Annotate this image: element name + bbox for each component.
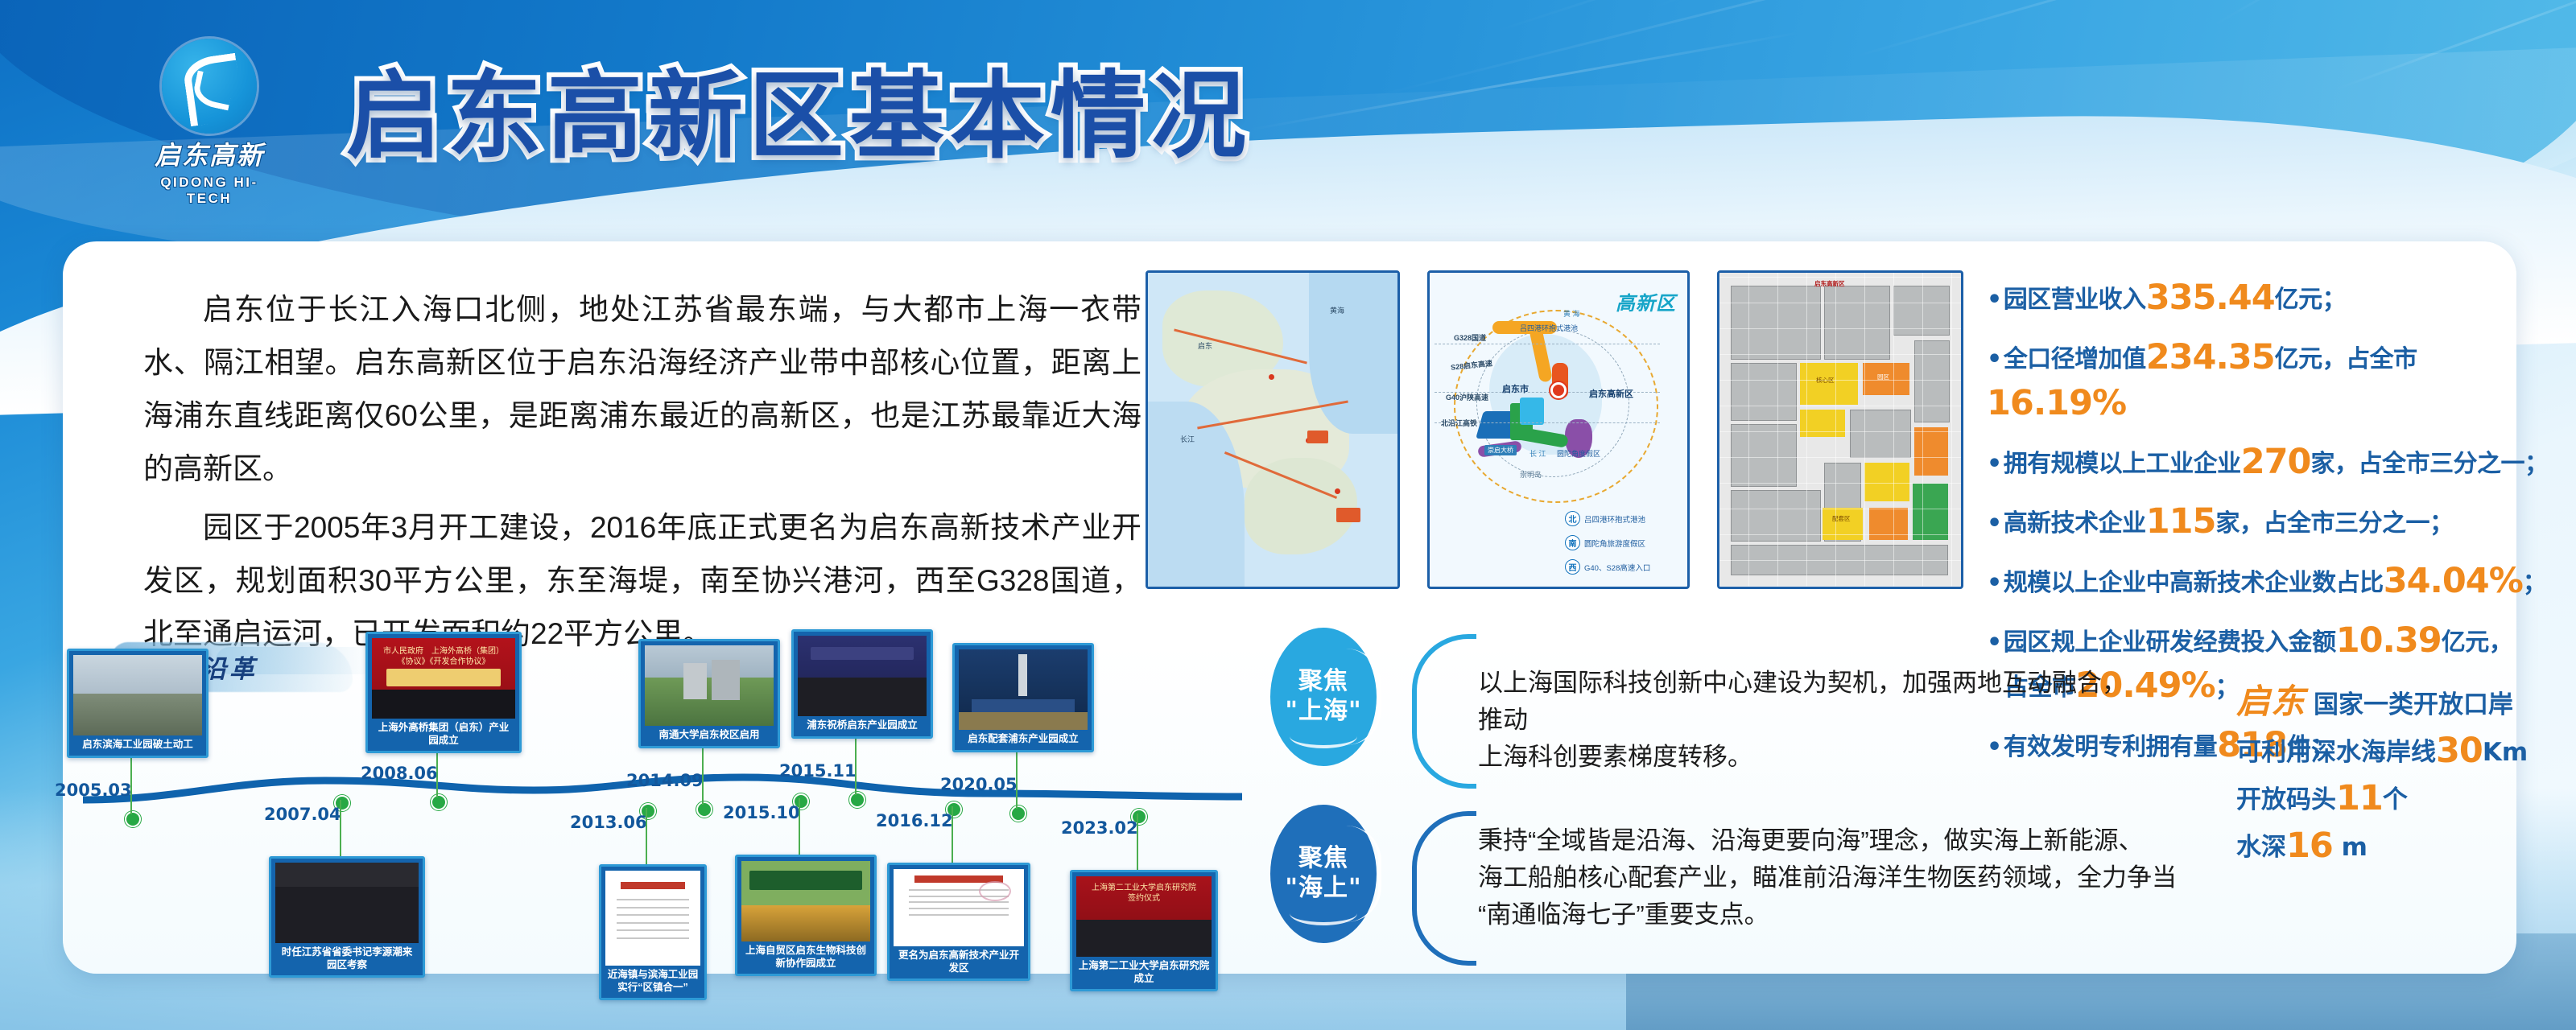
port-stat-line: 水深16 m — [2236, 826, 2574, 866]
stat-value: 234.35 — [2146, 337, 2275, 377]
legend-text-north: 吕四港环抱式港池 — [1584, 513, 1645, 525]
port-stat-label: 水深 — [2236, 833, 2286, 862]
timeline-event-card[interactable]: 时任江苏省省委书记李源潮来园区考察 — [269, 856, 425, 978]
focus-label-line1-1: 聚焦 — [1298, 844, 1348, 874]
stat-value: 335.44 — [2146, 278, 2275, 318]
stat-label: 园区营业收入 — [2004, 286, 2146, 314]
stat-bullet-icon: • — [1987, 286, 2002, 314]
focus-label-sea: 聚焦 "海上" — [1270, 805, 1377, 943]
focus-label-shanghai: 聚焦 "上海" — [1270, 628, 1377, 766]
page-title: 启东高新区基本情况 — [346, 39, 1252, 176]
focus-text-shanghai: 以上海国际科技创新中心建设为契机，加强两地互动融合，推动 上海科创要素梯度转移。 — [1478, 665, 2146, 776]
stat-label: 规模以上企业中高新技术企业数占比 — [2004, 569, 2384, 597]
stat-value: 270 — [2241, 442, 2311, 482]
timeline-stem — [1016, 751, 1018, 809]
timeline-node[interactable] — [849, 792, 865, 808]
stat-suffix: 亿元， — [2442, 628, 2513, 657]
map2-legend-item-2: 西 G40、S28高速入口 — [1565, 559, 1650, 575]
timeline-event-caption: 近海镇与滨海工业园 实行“区镇合一” — [605, 966, 700, 995]
timeline-event-card[interactable]: 上海第二工业大学启东研究院签约仪式上海第二工业大学启东研究院成立 — [1070, 870, 1218, 991]
stat-suffix: 家，占全市三分之一； — [2215, 509, 2453, 538]
timeline-node[interactable] — [1010, 805, 1026, 822]
logo-chinese-name: 启东高新 — [149, 135, 270, 172]
port-stat-line: 开放码头11个 — [2236, 778, 2574, 818]
content-card: 启东位于长江入海口北侧，地处江苏省最东端，与大都市上海一衣带水、隔江相望。启东高… — [63, 241, 2516, 974]
legend-badge-south: 南 — [1565, 535, 1580, 550]
stat-bullet-icon: • — [1987, 628, 2002, 657]
logo-english-name: QIDONG HI-TECH — [149, 175, 270, 207]
stat-label: 拥有规模以上工业企业 — [2004, 450, 2241, 478]
timeline-event-card[interactable]: 浦东祝桥启东产业园成立 — [791, 629, 933, 739]
timeline-stem — [952, 806, 953, 863]
stat-item: •园区营业收入335.44亿元； — [1987, 275, 2550, 321]
timeline-stem — [799, 798, 800, 855]
port-info-block: 启东国家一类开放口岸 可利用深水海岸线30Km开放码头11个水深16 m — [2236, 674, 2574, 866]
timeline-event-caption: 上海自贸区启东生物科技创新协作园成立 — [741, 941, 870, 970]
port-headline: 启东国家一类开放口岸 — [2236, 674, 2574, 723]
stat-mid: 亿元，占全市 — [2275, 345, 2417, 373]
port-head-text: 国家一类开放口岸 — [2314, 690, 2513, 719]
timeline-event-card[interactable]: 启东配套浦东产业园成立 — [952, 643, 1094, 752]
timeline-event-card[interactable]: 上海自贸区启东生物科技创新协作园成立 — [735, 855, 877, 976]
timeline-event-card[interactable]: 市人民政府 上海外高桥（集团）《协议》《开发合作协议》上海外高桥集团（启东）产业… — [365, 632, 522, 753]
timeline-event-photo — [798, 636, 927, 716]
stat-label: 高新技术企业 — [2004, 509, 2146, 538]
timeline-event-photo — [741, 861, 870, 941]
stat-suffix: 亿元； — [2275, 286, 2347, 314]
stat-item: •全口径增加值234.35亿元，占全市16.19% — [1987, 335, 2550, 426]
stat-label: 全口径增加值 — [2004, 345, 2146, 373]
timeline-event-caption: 启东滨海工业园破土动工 — [73, 735, 202, 752]
timeline-date: 2008.06 — [361, 764, 438, 783]
focus-brace-sea — [1412, 811, 1476, 966]
stat-label: 园区规上企业研发经费投入金额 — [2004, 628, 2336, 657]
timeline-event-photo — [894, 869, 1024, 946]
port-brand-label: 启东 — [2236, 684, 2306, 721]
timeline-event-card[interactable]: 启东滨海工业园破土动工 — [67, 649, 208, 758]
stat-suffix: ； — [2523, 569, 2547, 597]
stat-item: •拥有规模以上工业企业270家，占全市三分之一； — [1987, 439, 2550, 485]
legend-text-west: G40、S28高速入口 — [1584, 562, 1650, 573]
stat-value-2: 16.19% — [1987, 383, 2126, 423]
logo-bird-icon — [162, 39, 257, 134]
port-stat-unit: m — [2333, 833, 2368, 862]
timeline-event-photo — [605, 871, 700, 966]
port-stat-line: 可利用深水海岸线30Km — [2236, 731, 2574, 771]
timeline-node[interactable] — [125, 811, 141, 827]
port-stat-unit: Km — [2483, 738, 2528, 767]
timeline-event-card[interactable]: 近海镇与滨海工业园 实行“区镇合一” — [599, 864, 707, 1000]
map-panel-location[interactable]: 启东 长江 黄海 — [1146, 270, 1400, 589]
timeline-event-card[interactable]: 南通大学启东校区启用 — [638, 639, 780, 748]
stat-bullet-icon: • — [1987, 509, 2002, 538]
intro-text-block: 启东位于长江入海口北侧，地处江苏省最东端，与大都市上海一衣带水、隔江相望。启东高… — [143, 283, 1141, 667]
timeline-date: 2014.09 — [626, 771, 704, 790]
timeline-event-caption: 上海外高桥集团（启东）产业园成立 — [372, 719, 515, 748]
port-stat-label: 可利用深水海岸线 — [2236, 738, 2436, 767]
timeline-event-photo — [275, 863, 419, 943]
map2-legend-item-1: 南 圆陀角旅游度假区 — [1565, 535, 1645, 550]
stat-item: •规模以上企业中高新技术企业数占比34.04%； — [1987, 558, 2550, 604]
timeline-stem — [340, 800, 341, 856]
timeline-date: 2005.03 — [55, 781, 132, 800]
stat-bullet-icon: • — [1987, 450, 2002, 478]
timeline-date: 2007.04 — [264, 805, 341, 824]
timeline-stem — [855, 737, 857, 795]
timeline-event-photo — [645, 645, 774, 726]
timeline-event-photo: 上海第二工业大学启东研究院签约仪式 — [1076, 876, 1212, 957]
legend-text-south: 圆陀角旅游度假区 — [1584, 538, 1645, 549]
timeline-date: 2013.06 — [570, 813, 647, 832]
timeline-event-caption: 时任江苏省省委书记李源潮来园区考察 — [275, 943, 419, 972]
logo: 启东高新 QIDONG HI-TECH — [149, 39, 270, 171]
timeline-date: 2015.11 — [779, 761, 857, 781]
timeline-date: 2020.05 — [940, 775, 1018, 794]
map2-title: 高新区 — [1616, 287, 1676, 315]
timeline-event-caption: 更名为启东高新技术产业开发区 — [894, 946, 1024, 975]
timeline-event-card[interactable]: 更名为启东高新技术产业开发区 — [887, 863, 1030, 981]
stat-value: 10.39 — [2336, 620, 2442, 661]
legend-badge-north: 北 — [1565, 511, 1580, 526]
timeline-node[interactable] — [431, 794, 447, 810]
legend-badge-west: 西 — [1565, 559, 1580, 575]
focus-brace-shanghai — [1412, 634, 1476, 789]
stat-bullet-icon: • — [1987, 345, 2002, 373]
stat-bullet-icon: • — [1987, 569, 2002, 597]
timeline-stem — [702, 747, 704, 805]
map-panel-zone-plan[interactable]: 启东高新区 核心区 园区 配套区 — [1717, 270, 1963, 589]
timeline-event-photo: 市人民政府 上海外高桥（集团）《协议》《开发合作协议》 — [372, 638, 515, 719]
timeline-event-caption: 上海第二工业大学启东研究院成立 — [1076, 957, 1212, 986]
port-stat-unit: 个 — [2383, 785, 2408, 814]
timeline-date: 2016.12 — [876, 811, 953, 830]
stat-value: 115 — [2146, 501, 2216, 542]
port-stat-label: 开放码头 — [2236, 785, 2336, 814]
stat-value: 34.04% — [2384, 561, 2523, 601]
stat-suffix: 家，占全市三分之一； — [2310, 450, 2548, 478]
history-timeline: 2005.03启东滨海工业园破土动工2007.04时任江苏省省委书记李源潮来园区… — [63, 620, 1319, 958]
poster-root: 启东高新 QIDONG HI-TECH 启东高新区基本情况 启东位于长江入海口北… — [0, 0, 2576, 1030]
map-panel-hitech-zone[interactable]: 高新区 G328国道 S28启东高速 G40沪陕高速 北沿江高铁 启东市 — [1427, 270, 1690, 589]
timeline-event-caption: 启东配套浦东产业园成立 — [959, 730, 1088, 747]
timeline-event-photo — [959, 649, 1088, 730]
timeline-stem — [646, 808, 647, 864]
timeline-stem — [130, 756, 132, 814]
port-stat-value: 16 — [2286, 826, 2333, 866]
poster-header: 启东高新 QIDONG HI-TECH 启东高新区基本情况 — [0, 0, 2576, 201]
timeline-event-caption: 浦东祝桥启东产业园成立 — [798, 716, 927, 733]
intro-paragraph-1: 启东位于长江入海口北侧，地处江苏省最东端，与大都市上海一衣带水、隔江相望。启东高… — [143, 283, 1141, 495]
focus-label-line1-0: 聚焦 — [1298, 667, 1348, 697]
timeline-event-photo — [73, 655, 202, 735]
port-stat-value: 30 — [2436, 731, 2483, 771]
stat-item: •高新技术企业115家，占全市三分之一； — [1987, 499, 2550, 545]
map2-legend-item-0: 北 吕四港环抱式港池 — [1565, 511, 1645, 526]
timeline-stem — [1137, 814, 1138, 870]
timeline-node[interactable] — [696, 801, 712, 818]
port-stat-value: 11 — [2336, 778, 2383, 818]
timeline-event-caption: 南通大学启东校区启用 — [645, 726, 774, 743]
timeline-date: 2015.10 — [723, 803, 800, 822]
focus-text-sea: 秉持“全域皆是沿海、沿海更要向海”理念，做实海上新能源、 海工船舶核心配套产业，… — [1478, 822, 2202, 933]
timeline-date: 2023.02 — [1061, 818, 1138, 838]
